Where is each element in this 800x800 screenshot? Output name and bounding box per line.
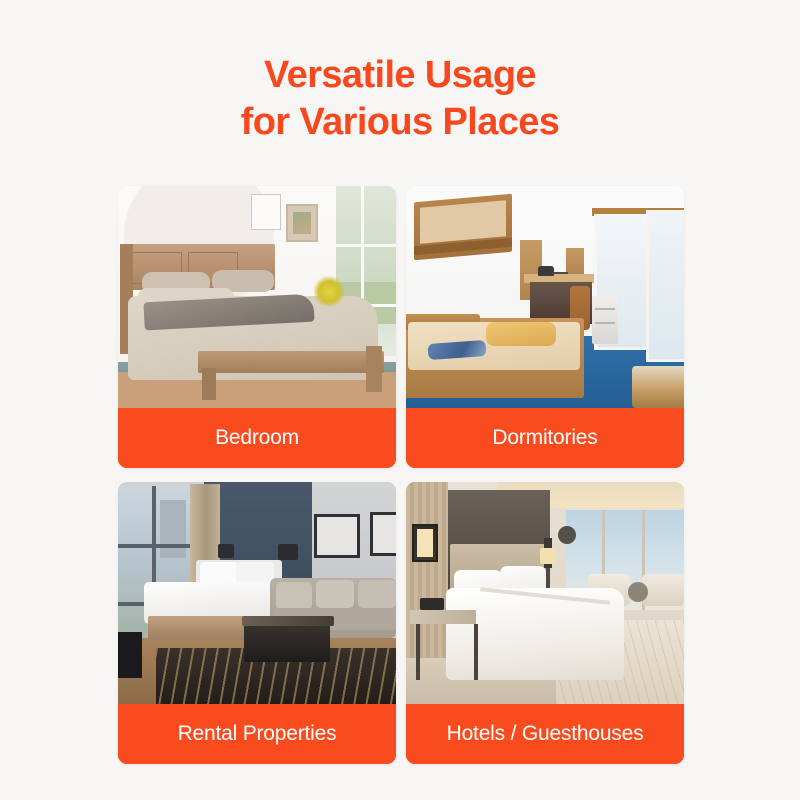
page-title-line-2: for Various Places [0,99,800,146]
wall-clock [558,526,576,544]
usage-card-dormitories[interactable]: Dormitories [406,186,684,468]
promo-page: Versatile Usage for Various Places [0,0,800,800]
telephone [420,598,444,610]
wall-shelf-interior [420,200,506,244]
hotels-guesthouses-scene [406,482,684,704]
framed-art [314,514,360,558]
table-lamp [278,544,298,560]
hotels-guesthouses-photo [406,482,684,704]
card-label-dormitories: Dormitories [406,408,684,468]
drawer-line [595,322,615,324]
usage-card-hotels-guesthouses[interactable]: Hotels / Guesthouses [406,482,684,764]
bedroom-scene [118,186,396,408]
nightstand-top [410,610,476,624]
window-mullion [118,544,194,548]
rental-properties-photo [118,482,396,704]
dormitories-scene [406,186,684,408]
nightstand-legs [416,624,478,680]
card-label-text: Rental Properties [178,722,337,746]
drawer-cabinet [592,296,618,344]
city-building [160,500,186,558]
card-label-text: Dormitories [492,426,597,450]
card-label-bedroom: Bedroom [118,408,396,468]
drawer-line [595,308,615,310]
rental-properties-scene [118,482,396,704]
card-label-hotels-guesthouses: Hotels / Guesthouses [406,704,684,764]
table-lamp [218,544,234,558]
card-label-rental-properties: Rental Properties [118,704,396,764]
bedroom-photo [118,186,396,408]
tv-cabinet [118,632,142,678]
sofa-cushion [316,580,354,608]
window-mullion [336,244,396,247]
potted-plant [314,274,344,306]
usage-card-grid: Bedroom [118,186,684,764]
lounge-chair [642,574,684,606]
usage-card-rental-properties[interactable]: Rental Properties [118,482,396,764]
lantern-sconce [412,524,438,562]
card-label-text: Bedroom [215,426,299,450]
framed-art [370,512,396,556]
second-bed [632,366,684,408]
side-table [628,582,648,602]
bed-leg [366,346,382,392]
card-label-text: Hotels / Guesthouses [447,722,644,746]
sconce-glow [540,548,556,564]
desk-lamp-arm [552,272,568,274]
desk-lamp [538,266,554,276]
coffee-table [244,620,330,662]
coffee-table-top [242,616,334,626]
bed-footboard-rail [198,351,384,373]
usage-card-bedroom[interactable]: Bedroom [118,186,396,468]
framed-art [251,194,281,230]
sofa-cushion [358,580,396,608]
sofa-cushion [276,582,312,610]
page-title-line-1: Versatile Usage [0,52,800,99]
framed-art [286,204,318,242]
bed-leg [202,368,216,400]
balcony-door [646,210,684,362]
yellow-pillow [486,322,556,346]
page-title: Versatile Usage for Various Places [0,52,800,146]
dormitories-photo [406,186,684,408]
